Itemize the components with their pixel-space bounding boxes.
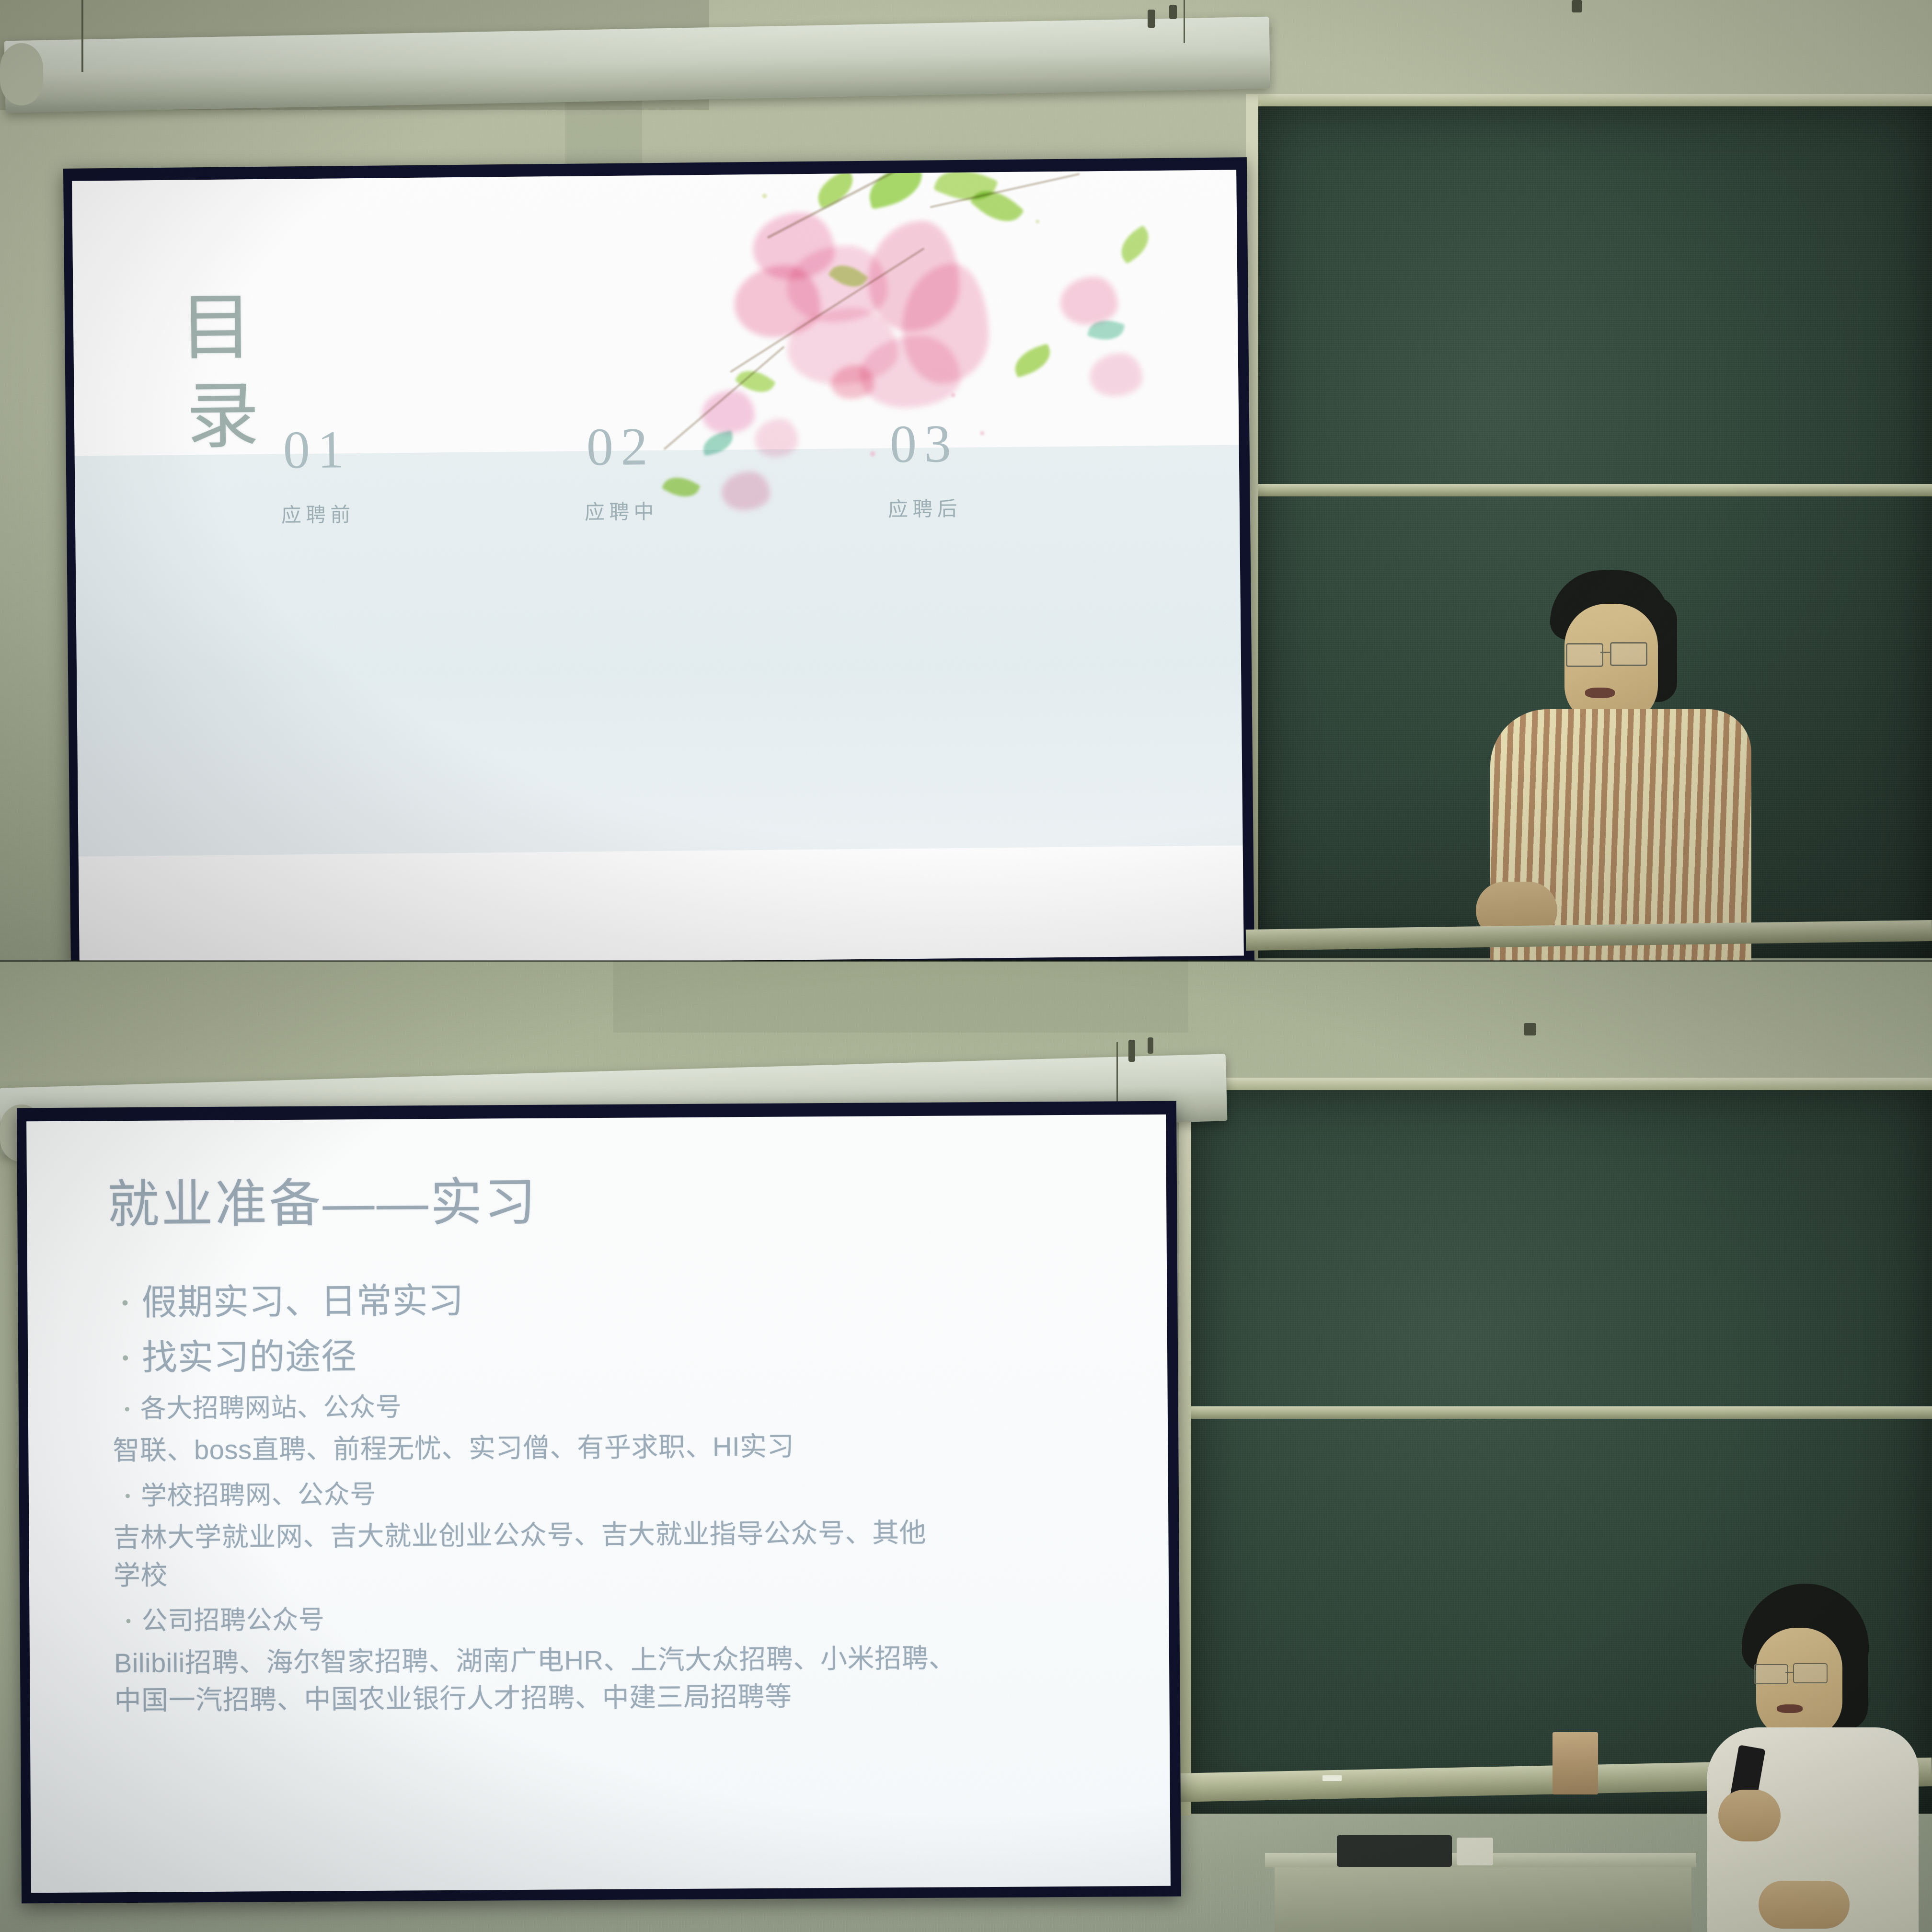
agenda-item-01[interactable]: 01 应聘前 <box>280 423 355 528</box>
agenda-number-02: 02 <box>584 420 658 474</box>
detail-job-sites: 智联、boss直聘、前程无忧、实习僧、有乎求职、HI实习 <box>109 1425 1115 1470</box>
agenda-label-03: 应聘后 <box>888 493 962 522</box>
internship-slide-body: 假期实习、日常实习 找实习的途径 各大招聘网站、公众号 智联、boss直聘、前程… <box>108 1273 1117 1719</box>
chalkboard-left-frame-bottom <box>1179 1078 1191 1816</box>
male-glasses-bridge <box>1600 652 1610 653</box>
bullet-find-internship: 找实习的途径 <box>108 1328 1115 1382</box>
detail-company-accounts-line1: Bilibili招聘、海尔智家招聘、湖南广电HR、上汽大众招聘、小米招聘、 <box>110 1638 1116 1682</box>
roller-hook-bottom <box>1148 1037 1153 1054</box>
male-glasses-left-lens <box>1566 643 1603 667</box>
projection-screen-bottom: 就业准备——实习 假期实习、日常实习 找实习的途径 各大招聘网站、公众号 智联、… <box>17 1101 1181 1904</box>
chalk-stick <box>1322 1775 1342 1781</box>
photo-frame-top: 目 录 01 应聘前 02 应聘中 03 应聘后 <box>0 0 1932 961</box>
internship-slide-title: 就业准备——实习 <box>107 1161 538 1238</box>
agenda-number-01: 01 <box>280 423 355 477</box>
laptop-on-podium <box>1337 1835 1452 1867</box>
agenda-items: 01 应聘前 02 应聘中 03 应聘后 <box>280 417 962 529</box>
bullet-holiday-internship: 假期实习、日常实习 <box>108 1273 1115 1327</box>
agenda-number-03: 03 <box>887 417 961 471</box>
speaker-male <box>1447 570 1754 961</box>
female-other-hand <box>1759 1881 1850 1929</box>
male-mouth <box>1585 688 1615 698</box>
detail-school-sites-line2: 学校 <box>110 1551 1116 1594</box>
slide-agenda: 目 录 01 应聘前 02 应聘中 03 应聘后 <box>72 170 1244 961</box>
roller-knob-b-top <box>1169 5 1177 19</box>
agenda-title-vertical: 目 录 <box>179 284 261 462</box>
detail-school-sites-line1: 吉林大学就业网、吉大就业创业公众号、吉大就业指导公众号、其他 <box>109 1513 1115 1557</box>
female-mouth <box>1777 1704 1803 1713</box>
roller-end-cap-left-top <box>0 43 43 105</box>
photo-frame-bottom: 就业准备——实习 假期实习、日常实习 找实习的途径 各大招聘网站、公众号 智联、… <box>0 961 1932 1932</box>
collage-seam-divider <box>0 960 1932 962</box>
chalkboard-top-frame-bottom <box>1179 1078 1932 1090</box>
projection-screen-top: 目 录 01 应聘前 02 应聘中 03 应聘后 <box>63 157 1254 961</box>
agenda-label-01: 应聘前 <box>281 498 355 528</box>
roller-hook-cord-top <box>1184 0 1185 43</box>
female-glasses-bridge <box>1785 1672 1794 1673</box>
paper-stack-on-podium <box>1457 1838 1493 1865</box>
agenda-label-02: 应聘中 <box>585 495 658 525</box>
speaker-female <box>1672 1584 1932 1932</box>
female-glasses-left-lens <box>1754 1664 1788 1684</box>
chalkboard-mid-rail-bottom <box>1188 1406 1932 1419</box>
podium-desk <box>1275 1862 1691 1932</box>
chalkboard-mid-rail <box>1255 484 1932 496</box>
bullet-school-sites: 学校招聘网、公众号 <box>109 1472 1115 1514</box>
wall-shadow-bottom <box>613 961 1188 1033</box>
bullet-job-sites: 各大招聘网站、公众号 <box>109 1385 1115 1427</box>
roller-knob-bottom <box>1128 1040 1135 1062</box>
chalkboard-top-frame <box>1246 94 1932 106</box>
blackboard-eraser <box>1552 1732 1598 1794</box>
female-glasses-right-lens <box>1793 1663 1828 1683</box>
agenda-title-char-2: 录 <box>186 372 261 462</box>
roller-knob-a-top <box>1148 10 1155 28</box>
roller-pull-cord-bottom <box>1116 1042 1118 1109</box>
slide-internship: 就业准备——实习 假期实习、日常实习 找实习的途径 各大招聘网站、公众号 智联、… <box>26 1115 1171 1893</box>
ceiling-fixture-bottom <box>1524 1023 1536 1035</box>
agenda-item-02[interactable]: 02 应聘中 <box>584 420 658 525</box>
agenda-title-char-1: 目 <box>179 284 260 373</box>
roller-pull-cord-top <box>81 0 83 72</box>
detail-company-accounts-line2: 中国一汽招聘、中国农业银行人才招聘、中建三局招聘等 <box>110 1676 1116 1719</box>
bullet-company-accounts: 公司招聘公众号 <box>110 1597 1116 1639</box>
male-glasses-right-lens <box>1610 642 1647 666</box>
female-hand-holding-mic <box>1718 1790 1781 1841</box>
ceiling-fixture-top <box>1572 0 1582 12</box>
slide1-bottom-band <box>79 846 1244 961</box>
agenda-item-03[interactable]: 03 应聘后 <box>887 417 962 522</box>
lecture-photo-collage: 目 录 01 应聘前 02 应聘中 03 应聘后 <box>0 0 1932 1932</box>
